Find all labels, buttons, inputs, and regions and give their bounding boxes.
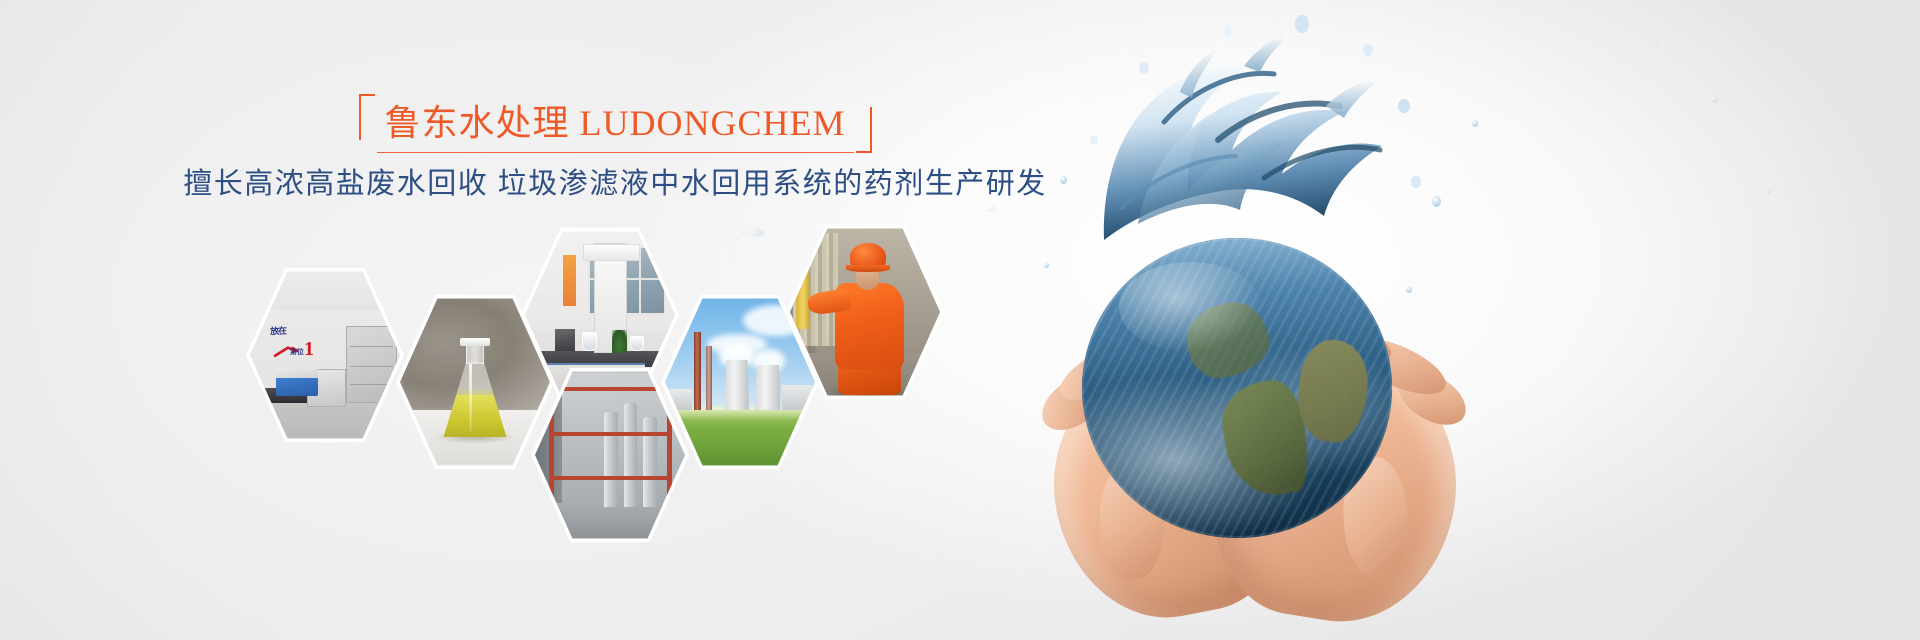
hex-photo-inner: 放在 1 第位 [250, 269, 400, 441]
droplet [1712, 96, 1718, 103]
droplet [1060, 176, 1067, 184]
droplet [1044, 262, 1049, 268]
hero-banner: 鲁东水处理 LUDONGCHEM 擅长高浓高盐废水回收 垃圾渗滤液中水回用系统的… [0, 0, 1920, 640]
wall-rank-label: 第位 [290, 347, 304, 357]
wall-rank-number: 1 [304, 339, 314, 359]
hexagon-photo-cluster: 放在 1 第位 [0, 0, 1000, 640]
hex-photo-industrial-pipes[interactable] [531, 365, 689, 545]
hex-photo-lab-slogan[interactable]: 放在 1 第位 [246, 265, 404, 445]
droplet [1656, 42, 1660, 47]
droplet [742, 228, 764, 237]
droplet [1472, 120, 1478, 127]
wall-slogan-graphic: 放在 1 第位 [267, 324, 345, 369]
droplet [1406, 286, 1412, 293]
water-splash [1068, 10, 1428, 310]
droplet [1766, 188, 1771, 194]
photo-lab-slogan: 放在 1 第位 [250, 269, 400, 441]
droplet [986, 206, 996, 212]
droplet [1432, 196, 1441, 207]
wall-slogan-text: 放在 [269, 324, 286, 338]
hands-holding-water-globe [1040, 0, 1580, 640]
